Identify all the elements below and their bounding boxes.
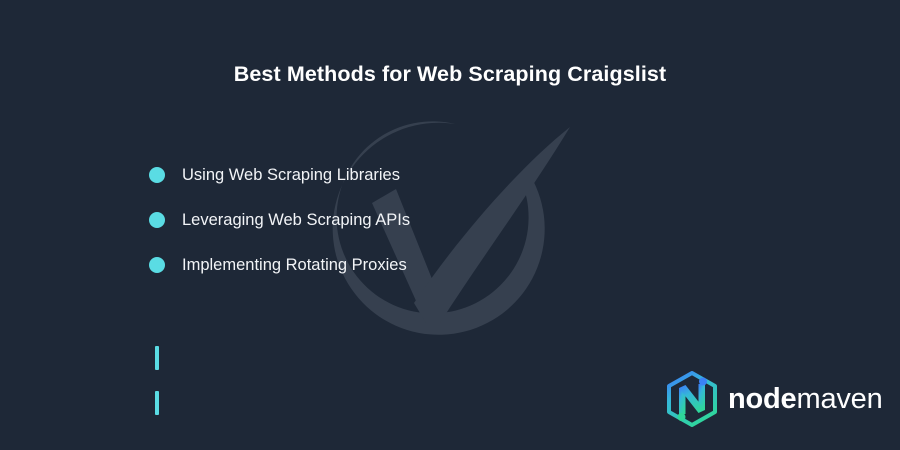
nodemaven-wordmark: nodemaven [728, 385, 883, 414]
nodemaven-hexagon-n-logo-icon [665, 371, 719, 427]
bullet-connector-line-1 [155, 346, 159, 370]
bullet-connector-line-2 [155, 391, 159, 415]
logo-word-maven: maven [796, 383, 882, 415]
slide-canvas: Best Methods for Web Scraping Craigslist… [0, 0, 900, 450]
nodemaven-logo: nodemaven [665, 371, 883, 427]
methods-bullet-list: Using Web Scraping Libraries Leveraging … [149, 163, 569, 277]
logo-word-node: node [728, 383, 796, 415]
list-item-label: Implementing Rotating Proxies [182, 257, 407, 274]
bullet-dot-icon [149, 257, 165, 273]
list-item: Implementing Rotating Proxies [149, 253, 569, 277]
list-item-label: Leveraging Web Scraping APIs [182, 212, 410, 229]
list-item: Using Web Scraping Libraries [149, 163, 569, 187]
list-item: Leveraging Web Scraping APIs [149, 208, 569, 232]
bullet-dot-icon [149, 167, 165, 183]
list-item-label: Using Web Scraping Libraries [182, 167, 400, 184]
bullet-dot-icon [149, 212, 165, 228]
page-title: Best Methods for Web Scraping Craigslist [0, 62, 900, 87]
